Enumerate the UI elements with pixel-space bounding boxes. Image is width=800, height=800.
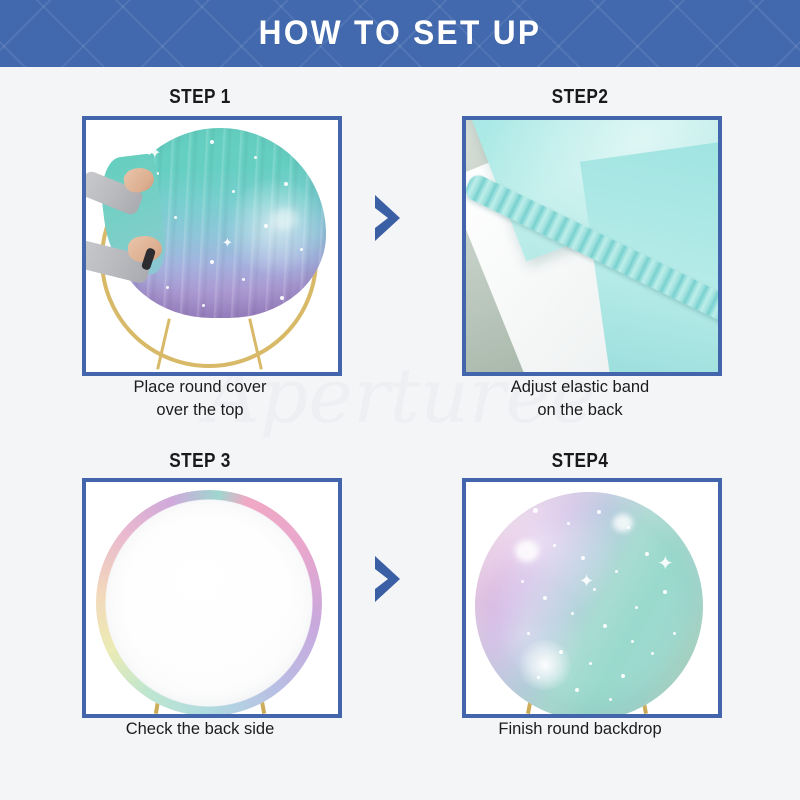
chevron-right-icon-top bbox=[372, 195, 402, 241]
light-bloom bbox=[613, 514, 633, 532]
page-header: HOW TO SET UP bbox=[0, 0, 800, 67]
step-caption-4-line1: Finish round backdrop bbox=[428, 718, 732, 741]
step-caption-4: Finish round backdrop bbox=[428, 718, 732, 741]
step-image-3 bbox=[82, 478, 342, 718]
step-image-3-content bbox=[86, 482, 338, 714]
step-block-1: STEP 1 ✦ ✦ bbox=[48, 86, 352, 416]
step-caption-3-line1: Check the back side bbox=[48, 718, 352, 741]
step-image-1-content: ✦ ✦ bbox=[86, 120, 338, 372]
finished-backdrop-surface: ✦ ✦ bbox=[475, 492, 703, 714]
step-image-2 bbox=[462, 116, 722, 376]
step-image-4-content: ✦ ✦ bbox=[466, 482, 718, 714]
page-title: HOW TO SET UP bbox=[28, 0, 772, 67]
step-caption-2-line1: Adjust elastic band bbox=[428, 376, 732, 399]
chevron-right-icon-bottom bbox=[372, 556, 402, 602]
step-caption-1-line1: Place round cover bbox=[48, 376, 352, 399]
sparkle-star-icon: ✦ bbox=[579, 572, 594, 590]
step-label-3: STEP 3 bbox=[69, 450, 330, 473]
step-caption-1-line2: over the top bbox=[48, 399, 352, 422]
step-label-2: STEP2 bbox=[449, 86, 710, 109]
step-label-4: STEP4 bbox=[449, 450, 710, 473]
step-block-2: STEP2 Adjust elastic band on the back bbox=[428, 86, 732, 416]
step-block-4: STEP4 bbox=[428, 450, 732, 770]
step-caption-1: Place round cover over the top bbox=[48, 376, 352, 423]
step-caption-2: Adjust elastic band on the back bbox=[428, 376, 732, 423]
sparkle-star-icon: ✦ bbox=[657, 554, 674, 574]
pastel-rim-edge bbox=[96, 490, 322, 714]
step-image-4: ✦ ✦ bbox=[462, 478, 722, 718]
light-bloom bbox=[515, 540, 539, 562]
step-caption-3: Check the back side bbox=[48, 718, 352, 741]
light-halo bbox=[517, 640, 573, 690]
step-image-1: ✦ ✦ bbox=[82, 116, 342, 376]
step-label-1: STEP 1 bbox=[69, 86, 330, 109]
step-caption-2-line2: on the back bbox=[428, 399, 732, 422]
sparkle-star-icon: ✦ bbox=[222, 236, 233, 249]
step-block-3: STEP 3 Check the back side bbox=[48, 450, 352, 770]
step-image-2-content bbox=[466, 120, 718, 372]
light-bloom bbox=[272, 208, 298, 230]
